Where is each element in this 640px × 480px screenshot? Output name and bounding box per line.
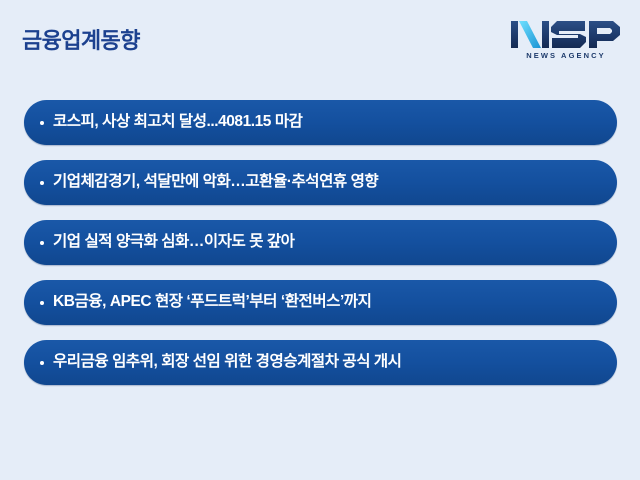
slide-header: 금융업계동향 — [0, 0, 640, 92]
page-title: 금융업계동향 — [22, 29, 140, 53]
bullet-icon — [40, 301, 44, 305]
bullet-icon — [40, 361, 44, 365]
headline-item[interactable]: 기업체감경기, 석달만에 악화…고환율·추석연휴 영향 — [24, 160, 617, 205]
headline-text: 기업 실적 양극화 심화…이자도 못 갚아 — [53, 233, 599, 252]
headline-text: 기업체감경기, 석달만에 악화…고환율·추석연휴 영향 — [53, 173, 599, 192]
news-summary-slide: 금융업계동향 — [0, 0, 640, 480]
nsp-logo: NEWS AGENCY — [510, 18, 622, 66]
bullet-icon — [40, 121, 44, 125]
headline-item[interactable]: KB금융, APEC 현장 ‘푸드트럭’부터 ‘환전버스’까지 — [24, 280, 617, 325]
headline-item[interactable]: 코스피, 사상 최고치 달성...4081.15 마감 — [24, 100, 617, 145]
logo-subtitle: NEWS AGENCY — [510, 51, 622, 60]
bullet-icon — [40, 241, 44, 245]
headline-list: 코스피, 사상 최고치 달성...4081.15 마감 기업체감경기, 석달만에… — [24, 100, 617, 385]
bullet-icon — [40, 181, 44, 185]
headline-text: 코스피, 사상 최고치 달성...4081.15 마감 — [53, 113, 599, 132]
headline-item[interactable]: 우리금융 임추위, 회장 선임 위한 경영승계절차 공식 개시 — [24, 340, 617, 385]
headline-text: KB금융, APEC 현장 ‘푸드트럭’부터 ‘환전버스’까지 — [53, 293, 599, 312]
headline-text: 우리금융 임추위, 회장 선임 위한 경영승계절차 공식 개시 — [53, 353, 599, 372]
headline-item[interactable]: 기업 실적 양극화 심화…이자도 못 갚아 — [24, 220, 617, 265]
nsp-wordmark-icon — [510, 18, 622, 50]
